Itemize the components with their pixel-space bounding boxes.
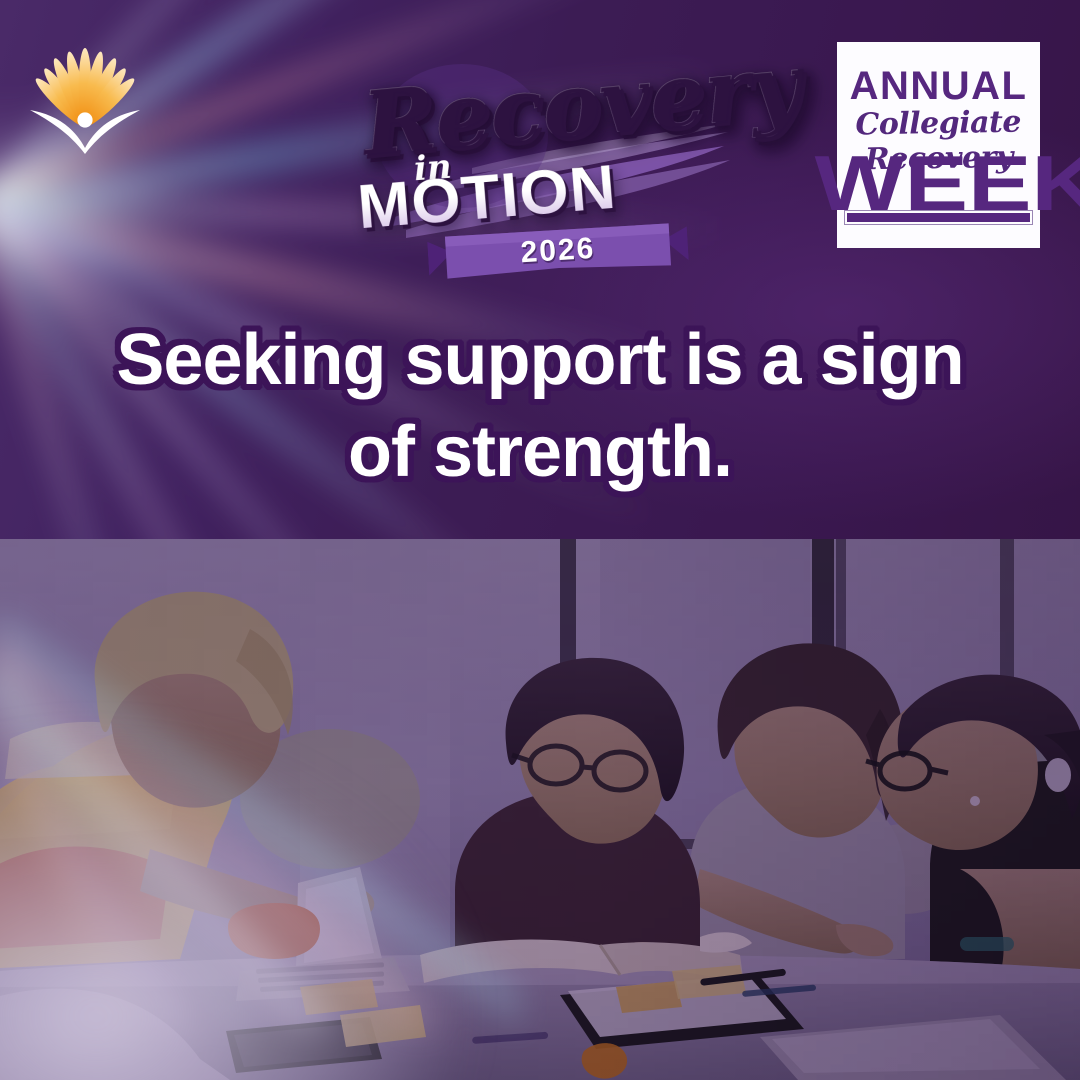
top-banner: Recovery in MOTION 2026 ANNUAL Collegiat…	[0, 0, 1080, 539]
book-sunburst-icon	[26, 48, 144, 156]
social-graphic-canvas: Recovery in MOTION 2026 ANNUAL Collegiat…	[0, 0, 1080, 1080]
students-photo	[0, 539, 1080, 1080]
annual-collegiate-recovery-week-badge: ANNUAL Collegiate Recovery WEEK	[837, 42, 1040, 248]
badge-underline-rule	[847, 213, 1030, 222]
photo-foreground-haze	[0, 740, 460, 1080]
badge-week-label: WEEK	[815, 146, 1063, 220]
page-title: Seeking support is a sign of strength.	[0, 314, 1080, 498]
badge-annual-label: ANNUAL	[837, 64, 1040, 109]
headline-line-1: Seeking support is a sign	[116, 320, 963, 400]
headline-line-2: of strength.	[0, 406, 1080, 498]
recovery-in-motion-logo: Recovery in MOTION 2026	[352, 50, 740, 255]
